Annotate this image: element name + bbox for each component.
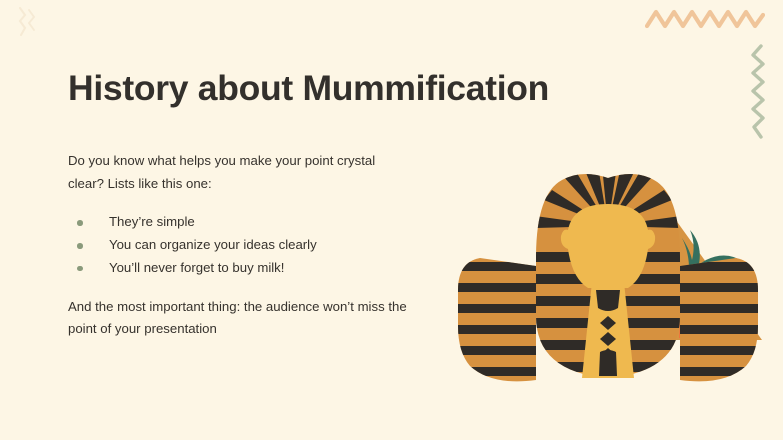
closing-paragraph: And the most important thing: the audien… (68, 296, 408, 341)
corner-squiggle-icon (14, 6, 44, 45)
bullet-dot-icon (77, 243, 83, 249)
slide-canvas: History about Mummification Do you know … (0, 0, 783, 440)
list-item-label: They’re simple (109, 214, 195, 229)
page-title: History about Mummification (68, 68, 708, 110)
bullet-dot-icon (77, 266, 83, 272)
pharaoh-pyramid-palm-illustration (432, 166, 776, 396)
list-item-label: You’ll never forget to buy milk! (109, 260, 284, 275)
list-item: You’ll never forget to buy milk! (68, 257, 408, 280)
zigzag-vertical-icon (748, 44, 774, 145)
bullet-list: They’re simple You can organize your ide… (68, 211, 408, 279)
body-text-block: Do you know what helps you make your poi… (68, 150, 408, 341)
list-item-label: You can organize your ideas clearly (109, 237, 317, 252)
intro-paragraph: Do you know what helps you make your poi… (68, 150, 408, 195)
pharaoh-figure-icon (452, 166, 764, 394)
bullet-dot-icon (77, 220, 83, 226)
list-item: They’re simple (68, 211, 408, 234)
list-item: You can organize your ideas clearly (68, 234, 408, 257)
zigzag-horizontal-icon (645, 6, 765, 39)
